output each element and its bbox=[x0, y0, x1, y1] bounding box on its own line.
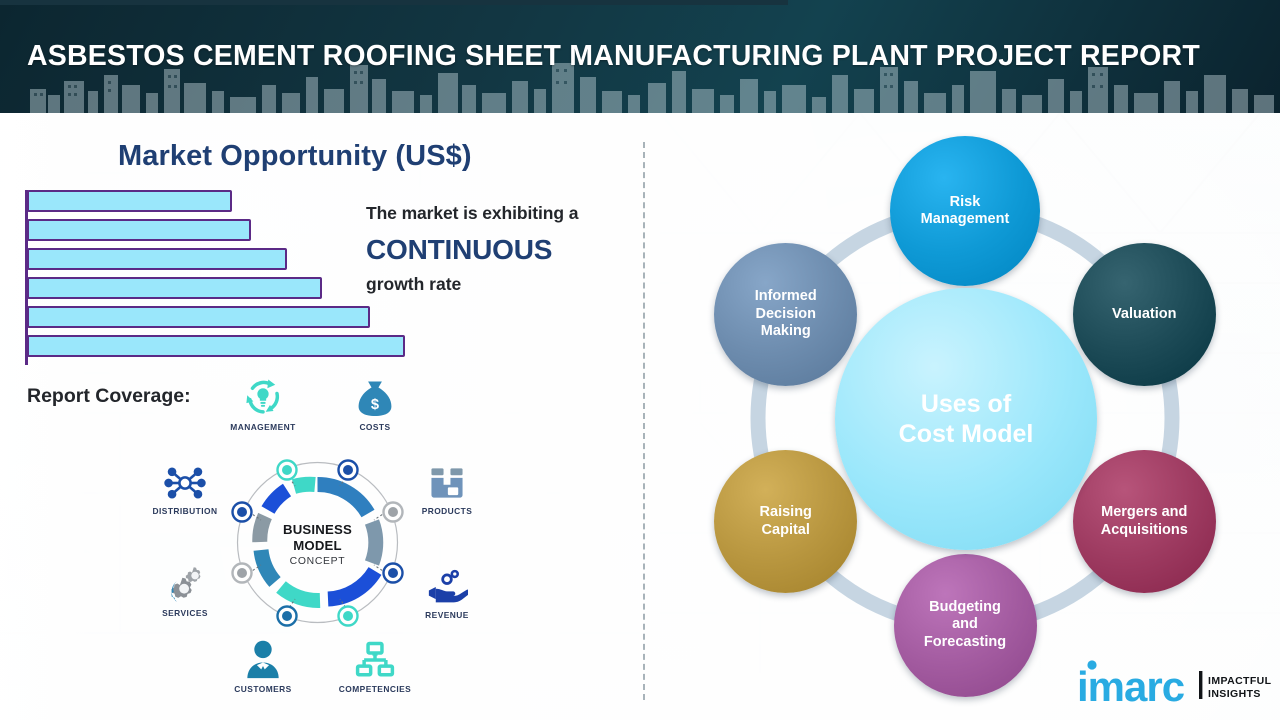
slide-canvas: ASBESTOS CEMENT ROOFING SHEET MANUFACTUR… bbox=[0, 0, 1280, 720]
node-valuation[interactable]: Valuation bbox=[1073, 243, 1216, 386]
bar-6 bbox=[27, 335, 405, 357]
imarc-wordmark: imarc bbox=[1077, 663, 1185, 709]
coverage-item-distribution[interactable]: DISTRIBUTION bbox=[130, 456, 240, 516]
bar-3 bbox=[27, 248, 287, 270]
report-coverage-cluster: BUSINESS MODEL CONCEPT bbox=[130, 372, 530, 707]
node-label-line: Mergers and bbox=[1095, 504, 1194, 521]
coverage-item-revenue[interactable]: REVENUE bbox=[392, 560, 502, 620]
node-label-line: Forecasting bbox=[918, 634, 1012, 651]
coverage-item-customers[interactable]: CUSTOMERS bbox=[208, 634, 318, 694]
node-label-line: Budgeting bbox=[918, 599, 1012, 616]
box-package-icon bbox=[392, 456, 502, 502]
node-risk-management[interactable]: RiskManagement bbox=[890, 136, 1040, 286]
coverage-label: COSTS bbox=[320, 422, 430, 432]
center-node-uses-of-cost-model[interactable]: Uses of Cost Model bbox=[835, 288, 1097, 550]
imarc-logo[interactable]: imarc IMPACTFUL INSIGHTS bbox=[1075, 657, 1275, 709]
recycle-lightbulb-icon bbox=[208, 372, 318, 418]
gears-icon bbox=[130, 558, 240, 604]
org-chart-icon bbox=[320, 634, 430, 680]
header-banner: ASBESTOS CEMENT ROOFING SHEET MANUFACTUR… bbox=[0, 0, 1280, 113]
market-opportunity-bar-chart bbox=[25, 190, 405, 365]
market-statement-block: The market is exhibiting a CONTINUOUS gr… bbox=[366, 203, 634, 295]
uses-of-cost-model-diagram: RiskManagementValuationMergers andAcquis… bbox=[645, 113, 1280, 720]
coverage-label: MANAGEMENT bbox=[208, 422, 318, 432]
money-bag-icon: $ bbox=[320, 372, 430, 418]
coverage-label: REVENUE bbox=[392, 610, 502, 620]
center-node-line1: Uses of bbox=[893, 389, 1040, 419]
coverage-label: CUSTOMERS bbox=[208, 684, 318, 694]
node-label-line: and bbox=[918, 616, 1012, 633]
imarc-tagline-line1: IMPACTFUL bbox=[1208, 675, 1272, 687]
imarc-tagline-line2: INSIGHTS bbox=[1208, 688, 1261, 700]
node-label-line: Capital bbox=[754, 522, 818, 539]
center-node-line2: Cost Model bbox=[893, 419, 1040, 449]
node-label-line: Risk bbox=[915, 194, 1016, 211]
header-notch bbox=[0, 0, 788, 5]
business-model-ring-graphic bbox=[225, 450, 410, 635]
market-opportunity-title: Market Opportunity (US$) bbox=[118, 140, 472, 173]
node-label-line: Raising bbox=[754, 504, 818, 521]
coverage-item-services[interactable]: SERVICES bbox=[130, 558, 240, 618]
node-label-line: Making bbox=[749, 323, 823, 340]
node-mergers-and-acquisitions[interactable]: Mergers andAcquisitions bbox=[1073, 450, 1216, 593]
node-label-line: Management bbox=[915, 211, 1016, 228]
coverage-item-competencies[interactable]: COMPETENCIES bbox=[320, 634, 430, 694]
svg-text:$: $ bbox=[371, 397, 379, 413]
coverage-item-costs[interactable]: $ COSTS bbox=[320, 372, 430, 432]
node-raising-capital[interactable]: RaisingCapital bbox=[714, 450, 857, 593]
node-label-line: Valuation bbox=[1106, 306, 1182, 323]
market-statement-line1: The market is exhibiting a bbox=[366, 203, 634, 225]
node-budgeting-and-forecasting[interactable]: BudgetingandForecasting bbox=[894, 554, 1037, 697]
business-model-ring: BUSINESS MODEL CONCEPT bbox=[225, 450, 410, 635]
bar-5 bbox=[27, 306, 370, 328]
node-label-line: Informed bbox=[749, 288, 823, 305]
node-informed-decision-making[interactable]: InformedDecisionMaking bbox=[714, 243, 857, 386]
bar-4 bbox=[27, 277, 322, 299]
network-nodes-icon bbox=[130, 456, 240, 502]
report-title: ASBESTOS CEMENT ROOFING SHEET MANUFACTUR… bbox=[27, 40, 1257, 73]
market-statement-highlight: CONTINUOUS bbox=[366, 231, 634, 269]
bar-2 bbox=[27, 219, 251, 241]
coverage-label: DISTRIBUTION bbox=[130, 506, 240, 516]
user-person-icon bbox=[208, 634, 318, 680]
coverage-item-management[interactable]: MANAGEMENT bbox=[208, 372, 318, 432]
node-label-line: Acquisitions bbox=[1095, 522, 1194, 539]
market-statement-line3: growth rate bbox=[366, 273, 634, 296]
coverage-item-products[interactable]: PRODUCTS bbox=[392, 456, 502, 516]
coverage-label: PRODUCTS bbox=[392, 506, 502, 516]
hand-coins-icon bbox=[392, 560, 502, 606]
coverage-label: COMPETENCIES bbox=[320, 684, 430, 694]
bar-1 bbox=[27, 190, 232, 212]
node-label-line: Decision bbox=[749, 306, 823, 323]
coverage-label: SERVICES bbox=[130, 608, 240, 618]
